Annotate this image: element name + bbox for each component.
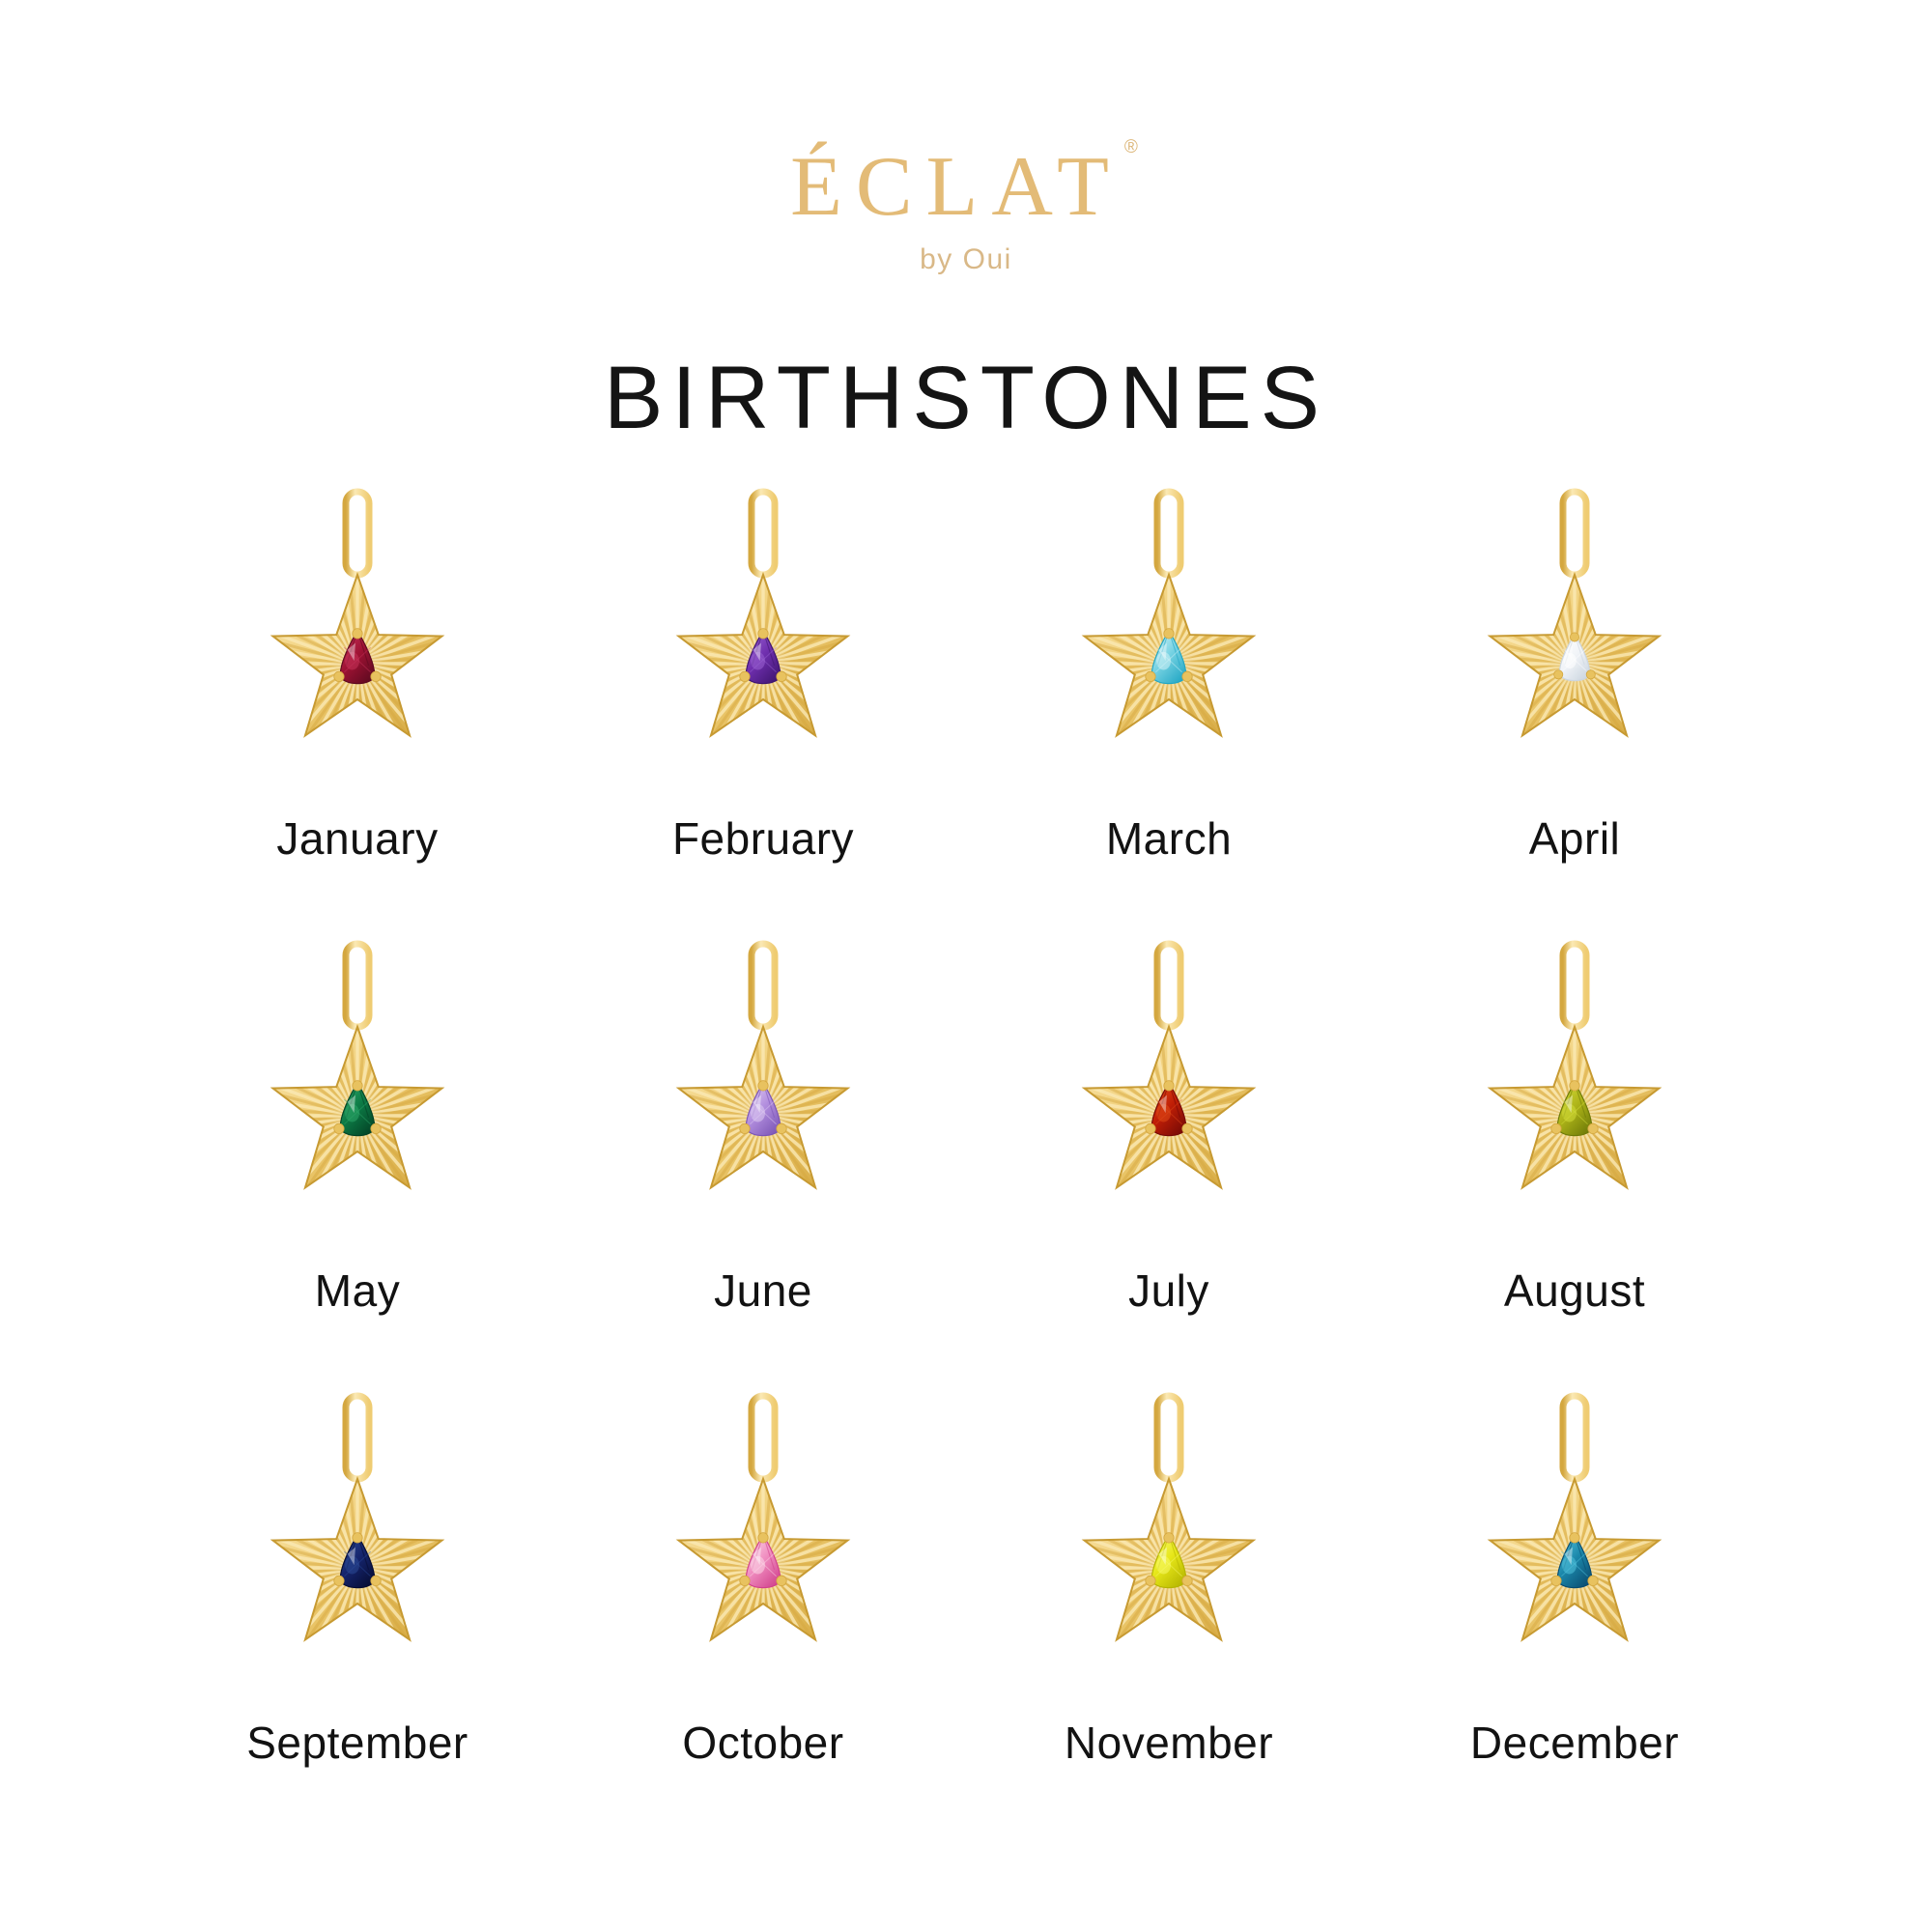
month-label: December [1470, 1717, 1679, 1769]
birthstone-card-january[interactable]: January [155, 478, 560, 930]
birthstone-card-april[interactable]: April [1372, 478, 1777, 930]
birthstone-card-october[interactable]: October [560, 1382, 966, 1834]
brand-tagline: by Oui [790, 243, 1142, 276]
brand-logo: ÉCLAT® by Oui [790, 145, 1142, 276]
month-label: March [1106, 812, 1232, 865]
month-label: February [672, 812, 854, 865]
star-pendant-sapphire-icon[interactable] [232, 1382, 483, 1672]
month-label: April [1529, 812, 1621, 865]
month-label: July [1128, 1264, 1209, 1317]
star-pendant-pink-tourmaline-icon[interactable] [638, 1382, 889, 1672]
star-pendant-diamond-icon[interactable] [1449, 478, 1700, 768]
month-label: November [1065, 1717, 1273, 1769]
birthstone-card-may[interactable]: May [155, 930, 560, 1382]
brand-name: ÉCLAT® [790, 145, 1142, 230]
star-pendant-ruby-icon[interactable] [1043, 930, 1294, 1220]
birthstone-card-november[interactable]: November [966, 1382, 1372, 1834]
birthstone-card-june[interactable]: June [560, 930, 966, 1382]
month-label: October [682, 1717, 843, 1769]
birthstone-card-july[interactable]: July [966, 930, 1372, 1382]
star-pendant-aquamarine-icon[interactable] [1043, 478, 1294, 768]
star-pendant-garnet-icon[interactable] [232, 478, 483, 768]
registered-trademark-icon: ® [1124, 137, 1138, 157]
birthstone-card-march[interactable]: March [966, 478, 1372, 930]
star-pendant-blue-zircon-icon[interactable] [1449, 1382, 1700, 1672]
birthstone-grid: JanuaryFebruaryMarchAprilMayJuneJulyAugu… [155, 478, 1777, 1834]
star-pendant-alexandrite-icon[interactable] [638, 930, 889, 1220]
star-pendant-peridot-icon[interactable] [1449, 930, 1700, 1220]
birthstone-card-september[interactable]: September [155, 1382, 560, 1834]
star-pendant-amethyst-icon[interactable] [638, 478, 889, 768]
birthstone-card-december[interactable]: December [1372, 1382, 1777, 1834]
page-title: BIRTHSTONES [604, 348, 1328, 449]
month-label: August [1504, 1264, 1645, 1317]
birthstones-poster: ÉCLAT® by Oui BIRTHSTONES JanuaryFebruar… [0, 0, 1932, 1932]
star-pendant-citrine-icon[interactable] [1043, 1382, 1294, 1672]
star-pendant-emerald-icon[interactable] [232, 930, 483, 1220]
month-label: May [315, 1264, 400, 1317]
brand-name-text: ÉCLAT [790, 140, 1122, 234]
month-label: January [276, 812, 438, 865]
birthstone-card-february[interactable]: February [560, 478, 966, 930]
month-label: June [714, 1264, 812, 1317]
birthstone-card-august[interactable]: August [1372, 930, 1777, 1382]
month-label: September [246, 1717, 469, 1769]
